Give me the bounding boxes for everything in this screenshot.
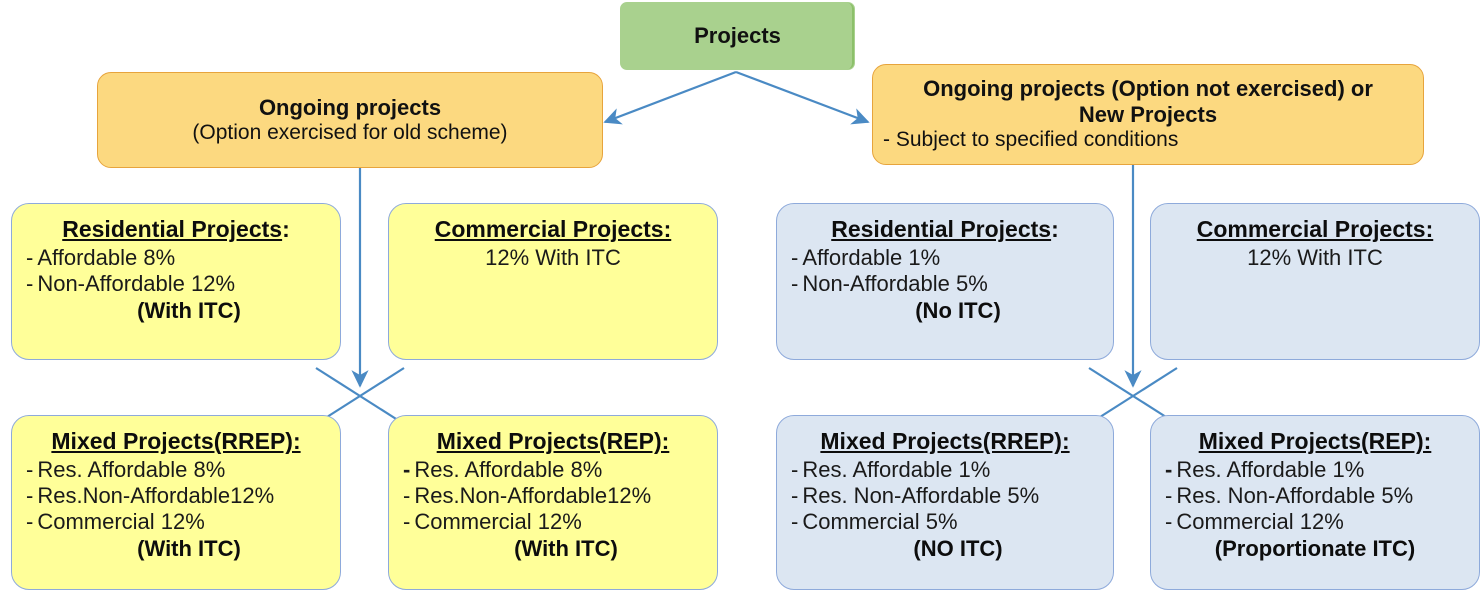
leaf-footer: (No ITC): [791, 298, 1099, 324]
connector-root-to-left: [605, 72, 736, 122]
leaf-line: -Non-Affordable 5%: [791, 271, 1099, 297]
leaf-footer: (With ITC): [403, 536, 703, 562]
connector-root-to-right: [736, 72, 868, 122]
node-ongoing-residential[interactable]: Residential Projects: -Affordable 8% -No…: [11, 203, 341, 360]
branch-subtext: - Subject to specified conditions: [883, 128, 1178, 153]
leaf-footer: (NO ITC): [791, 536, 1099, 562]
node-projects-root[interactable]: Projects: [620, 2, 855, 70]
root-label: Projects: [694, 23, 781, 49]
leaf-line: -Affordable 1%: [791, 245, 1099, 271]
leaf-line: -Res. Affordable 8%: [403, 457, 703, 483]
leaf-title: Commercial Projects:: [403, 216, 703, 243]
leaf-line: -Commercial 12%: [403, 509, 703, 535]
leaf-line: -Res. Affordable 1%: [1165, 457, 1465, 483]
branch-heading-line2: New Projects: [1079, 102, 1217, 128]
leaf-center-text: 12% With ITC: [1165, 245, 1465, 271]
branch-subtext: (Option exercised for old scheme): [192, 121, 507, 146]
node-ongoing-mixed-rep[interactable]: Mixed Projects(REP): -Res. Affordable 8%…: [388, 415, 718, 590]
leaf-center-text: 12% With ITC: [403, 245, 703, 271]
leaf-line: -Commercial 12%: [1165, 509, 1465, 535]
node-new-residential[interactable]: Residential Projects: -Affordable 1% -No…: [776, 203, 1114, 360]
leaf-footer: (Proportionate ITC): [1165, 536, 1465, 562]
branch-heading: Ongoing projects: [259, 95, 441, 121]
leaf-title: Residential Projects:: [791, 216, 1099, 243]
node-ongoing-mixed-rrep[interactable]: Mixed Projects(RREP): -Res. Affordable 8…: [11, 415, 341, 590]
leaf-line: -Res. Affordable 1%: [791, 457, 1099, 483]
node-new-commercial[interactable]: Commercial Projects: 12% With ITC: [1150, 203, 1480, 360]
leaf-line: -Res. Non-Affordable 5%: [1165, 483, 1465, 509]
leaf-line: -Commercial 5%: [791, 509, 1099, 535]
node-ongoing-projects-branch[interactable]: Ongoing projects (Option exercised for o…: [97, 72, 603, 168]
node-new-mixed-rrep[interactable]: Mixed Projects(RREP): -Res. Affordable 1…: [776, 415, 1114, 590]
leaf-line: -Non-Affordable 12%: [26, 271, 326, 297]
leaf-line: -Res. Affordable 8%: [26, 457, 326, 483]
leaf-line: -Res.Non-Affordable12%: [26, 483, 326, 509]
leaf-line: -Res. Non-Affordable 5%: [791, 483, 1099, 509]
node-new-projects-branch[interactable]: Ongoing projects (Option not exercised) …: [872, 64, 1424, 165]
node-new-mixed-rep[interactable]: Mixed Projects(REP): -Res. Affordable 1%…: [1150, 415, 1480, 590]
leaf-line: -Res.Non-Affordable12%: [403, 483, 703, 509]
node-ongoing-commercial[interactable]: Commercial Projects: 12% With ITC: [388, 203, 718, 360]
branch-heading-line1: Ongoing projects (Option not exercised) …: [923, 76, 1373, 102]
leaf-title: Residential Projects:: [26, 216, 326, 243]
leaf-footer: (With ITC): [26, 536, 326, 562]
leaf-title: Mixed Projects(REP):: [403, 428, 703, 455]
leaf-line: -Affordable 8%: [26, 245, 326, 271]
leaf-title: Mixed Projects(RREP):: [791, 428, 1099, 455]
leaf-title: Mixed Projects(RREP):: [26, 428, 326, 455]
leaf-title: Commercial Projects:: [1165, 216, 1465, 243]
leaf-title: Mixed Projects(REP):: [1165, 428, 1465, 455]
diagram-canvas: Projects Ongoing projects (Option exerci…: [0, 0, 1484, 595]
leaf-line: -Commercial 12%: [26, 509, 326, 535]
leaf-footer: (With ITC): [26, 298, 326, 324]
